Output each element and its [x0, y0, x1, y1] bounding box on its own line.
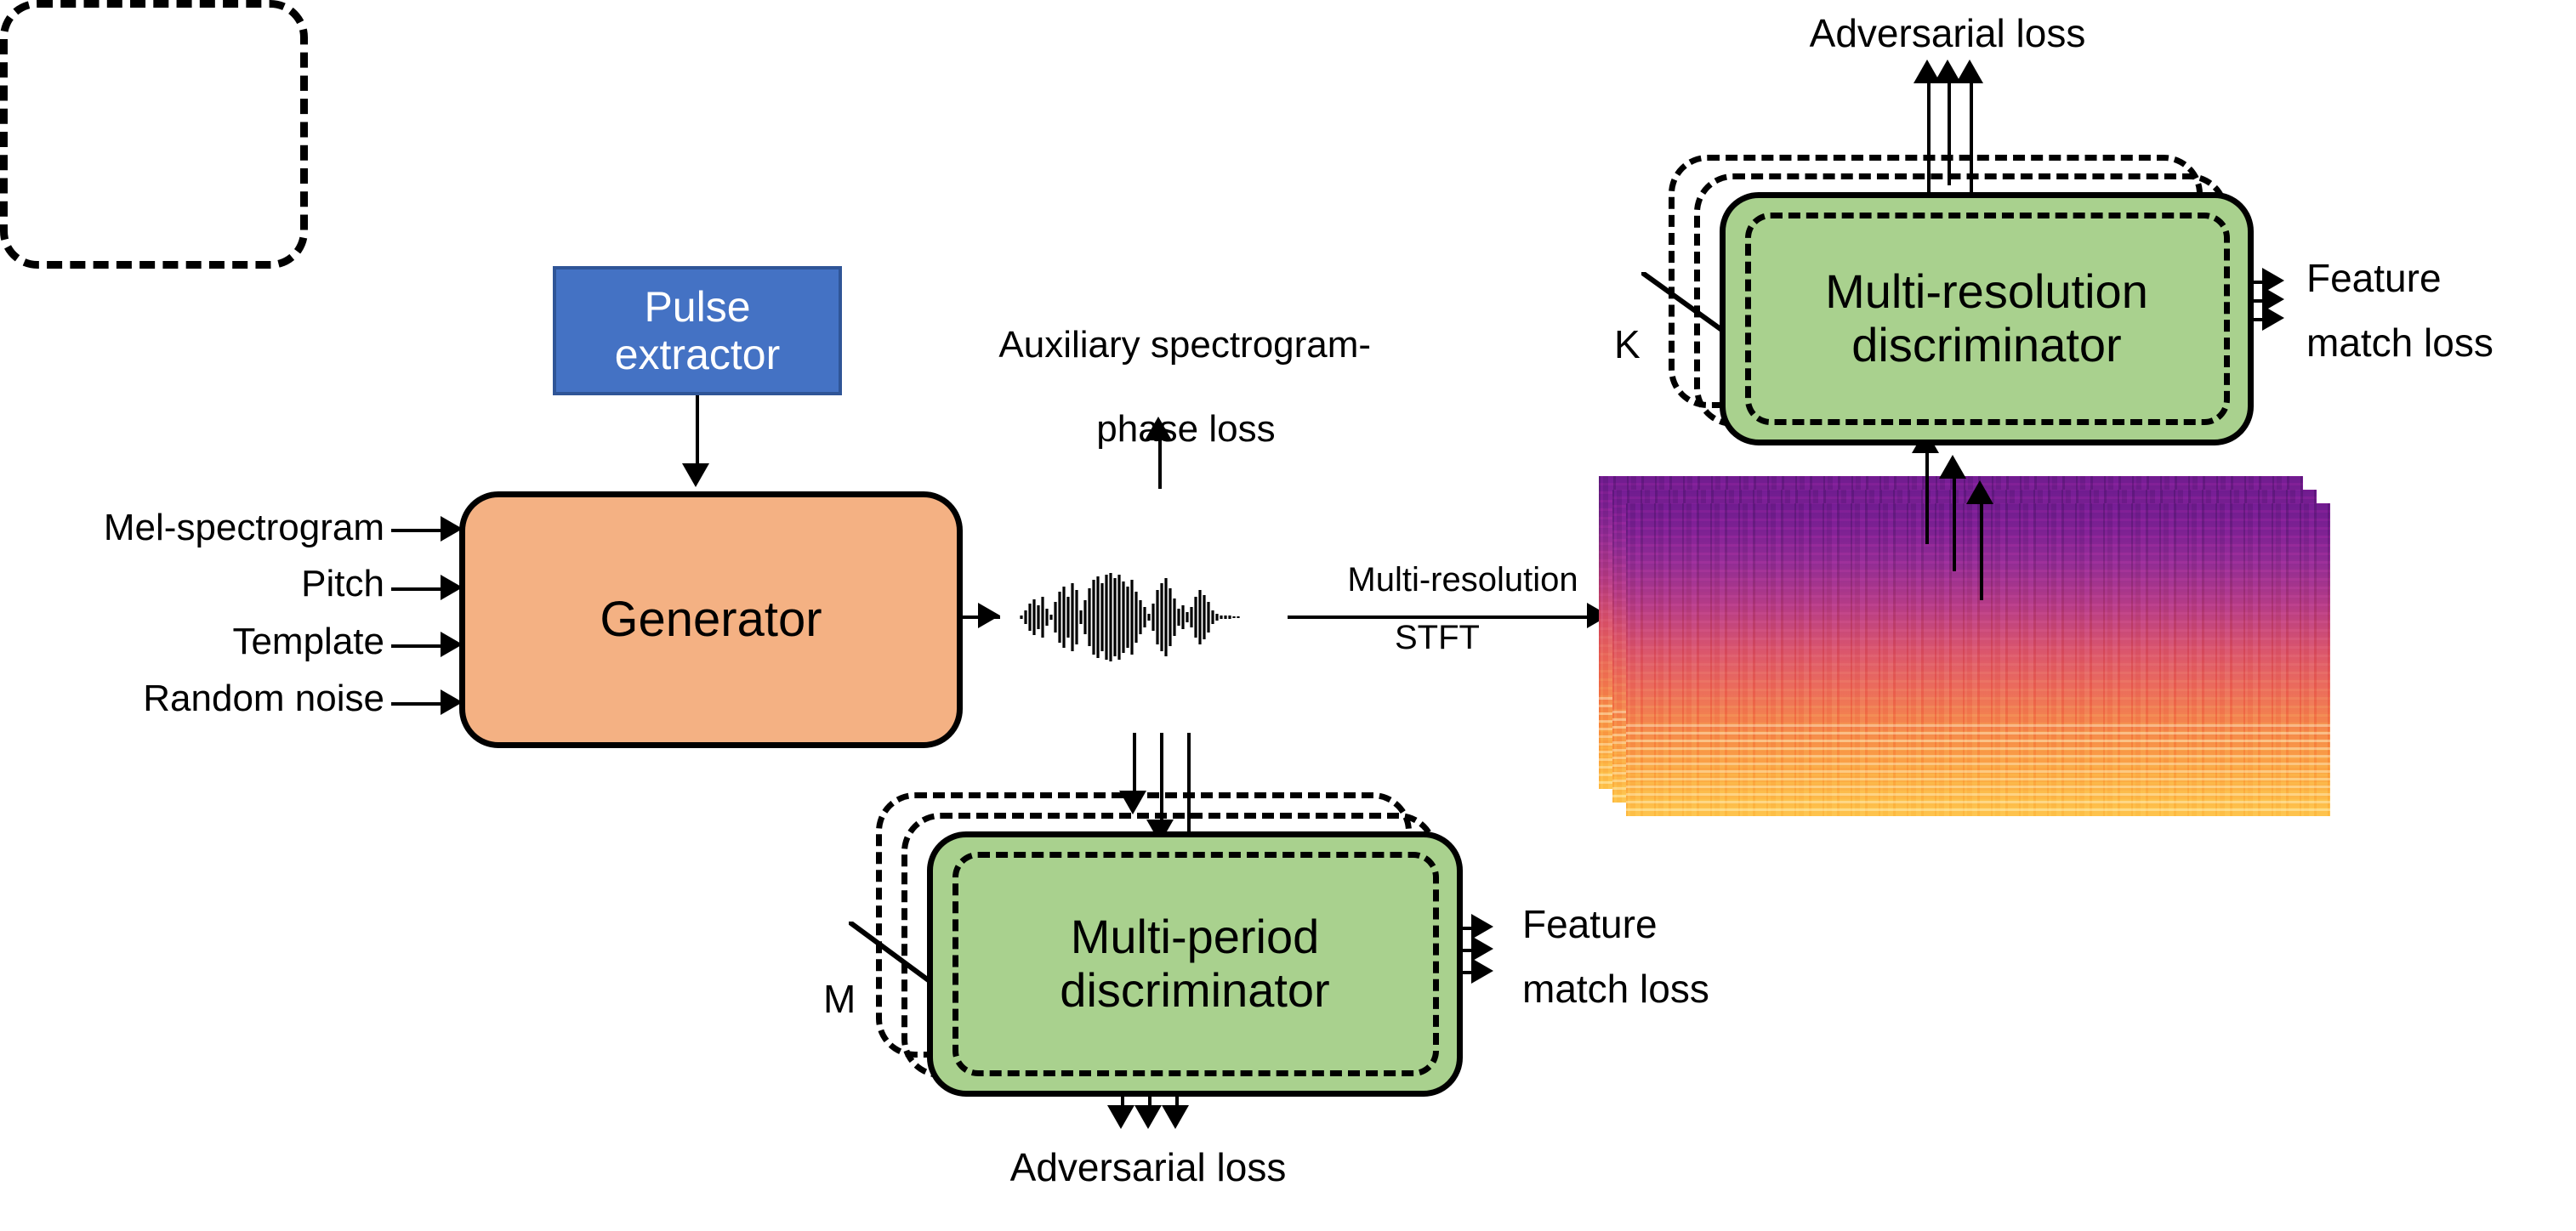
pulse-extractor-block[interactable]: Pulseextractor: [553, 266, 842, 395]
edge-spectrogram-to-mrd-arrowhead-2: [1939, 455, 1966, 479]
edge-generator-to-waveform-arrowhead: [978, 603, 1000, 628]
input-line-mel-spectrogram: [391, 529, 446, 532]
mrd-feature-loss-label-line1: Feature: [2306, 257, 2576, 301]
mpd-label: Multi-period discriminator: [1060, 910, 1329, 1017]
mpd-feature-loss-label-line2: match loss: [1522, 967, 1811, 1012]
stft-label-line1: Multi-resolution: [1293, 561, 1633, 599]
spectrogram-stack: [1599, 476, 2356, 816]
mpd-feature-loss-label-line1: Feature: [1522, 903, 1794, 947]
mrd-adversarial-loss-label: Adversarial loss: [1692, 12, 2203, 56]
edge-pulse-to-generator-arrowhead: [682, 463, 709, 487]
diagram-canvas: Pulseextractor Mel-spectrogram Pitch Tem…: [0, 0, 2576, 1231]
waveform-block[interactable]: [0, 0, 308, 269]
mrd-feature-loss-label-line2: match loss: [2306, 321, 2576, 366]
input-label-random-noise: Random noise: [34, 678, 384, 719]
edge-mpd-to-adversarial-arrowhead-1: [1107, 1105, 1134, 1129]
generator-label: Generator: [600, 593, 822, 648]
input-line-template: [391, 644, 446, 648]
input-label-mel-spectrogram: Mel-spectrogram: [34, 507, 384, 548]
edge-waveform-to-mpd-1: [1133, 733, 1136, 794]
edge-pulse-to-generator: [696, 395, 699, 465]
edge-mrd-to-feature-arrowhead-3: [2262, 305, 2284, 331]
edge-spectrogram-to-mrd-arrowhead-3: [1966, 480, 1993, 504]
spectrogram-layer-1: [1626, 503, 2330, 816]
generator-block[interactable]: Generator: [459, 491, 963, 748]
mrd-label: Multi-resolution discriminator: [1825, 265, 2148, 372]
stft-label-line2: STFT: [1310, 619, 1565, 657]
edge-mpd-to-adversarial-arrowhead-3: [1162, 1105, 1189, 1129]
edge-mrd-to-adversarial-arrowhead-3: [1956, 60, 1983, 83]
edge-spectrogram-to-mrd-3: [1980, 502, 1983, 600]
mpd-adversarial-loss-label: Adversarial loss: [893, 1146, 1403, 1190]
edge-spectrogram-to-mrd-2: [1953, 476, 1956, 571]
input-line-random-noise: [391, 702, 446, 706]
multi-resolution-discriminator-block[interactable]: Multi-resolution discriminator: [1720, 192, 2254, 445]
aux-loss-label: Auxiliary spectrogram- phase loss: [901, 282, 1429, 491]
waveform-icon: [1019, 571, 1247, 663]
input-label-template: Template: [34, 621, 384, 662]
multi-period-discriminator-block[interactable]: Multi-period discriminator: [927, 831, 1463, 1097]
edge-mpd-to-feature-arrowhead-3: [1471, 958, 1493, 984]
edge-mpd-to-adversarial-arrowhead-2: [1134, 1105, 1162, 1129]
edge-spectrogram-to-mrd-1: [1925, 451, 1929, 544]
input-line-pitch: [391, 587, 446, 591]
input-label-pitch: Pitch: [34, 563, 384, 604]
pulse-extractor-label: Pulseextractor: [615, 283, 781, 378]
